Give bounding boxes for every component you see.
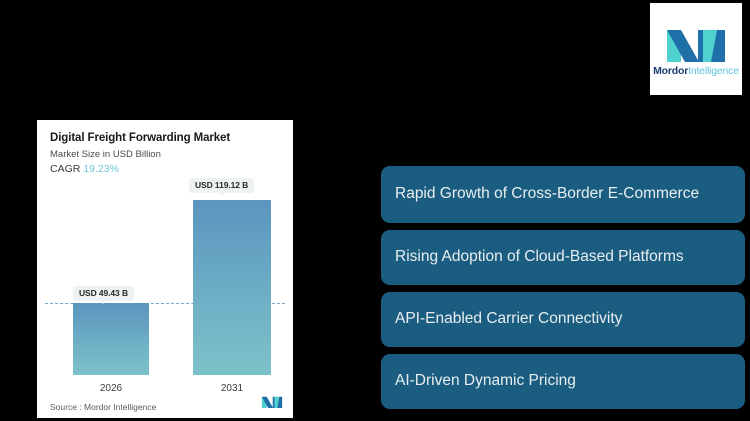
bar-value-label-2031: USD 119.12 B (189, 178, 254, 193)
mordor-intelligence-logo-small-icon (261, 394, 283, 413)
driver-card-label-2: API-Enabled Carrier Connectivity (395, 310, 622, 329)
x-axis-tick-2031: 2031 (193, 383, 271, 394)
chart-source: Source : Mordor Intelligence (50, 402, 156, 412)
bar-2031[interactable] (193, 200, 271, 375)
chart-source-value: Mordor Intelligence (84, 402, 156, 412)
driver-card-3[interactable]: AI-Driven Dynamic Pricing (381, 354, 745, 409)
brand-wordmark: MordorIntelligence (653, 66, 739, 77)
brand-wordmark-primary: Mordor (653, 65, 688, 77)
bar-chart-plot-area: USD 49.43 B USD 119.12 B 2026 2031 (37, 120, 293, 418)
driver-card-1[interactable]: Rising Adoption of Cloud-Based Platforms (381, 230, 745, 285)
brand-wordmark-secondary: Intelligence (688, 65, 739, 77)
mordor-intelligence-logo-icon (665, 22, 727, 62)
market-size-chart-card: Digital Freight Forwarding Market Market… (37, 120, 293, 418)
driver-card-label-0: Rapid Growth of Cross-Border E-Commerce (395, 185, 699, 204)
brand-logo-card: MordorIntelligence (650, 3, 742, 95)
driver-card-0[interactable]: Rapid Growth of Cross-Border E-Commerce (381, 166, 745, 223)
driver-card-2[interactable]: API-Enabled Carrier Connectivity (381, 292, 745, 347)
bar-2026[interactable] (73, 303, 149, 375)
chart-source-label: Source : (50, 402, 82, 412)
market-drivers-list: Rapid Growth of Cross-Border E-Commerce … (381, 166, 745, 416)
driver-card-label-1: Rising Adoption of Cloud-Based Platforms (395, 248, 684, 267)
bar-value-label-2026: USD 49.43 B (73, 286, 134, 301)
driver-card-label-3: AI-Driven Dynamic Pricing (395, 372, 576, 391)
x-axis-tick-2026: 2026 (73, 383, 149, 394)
